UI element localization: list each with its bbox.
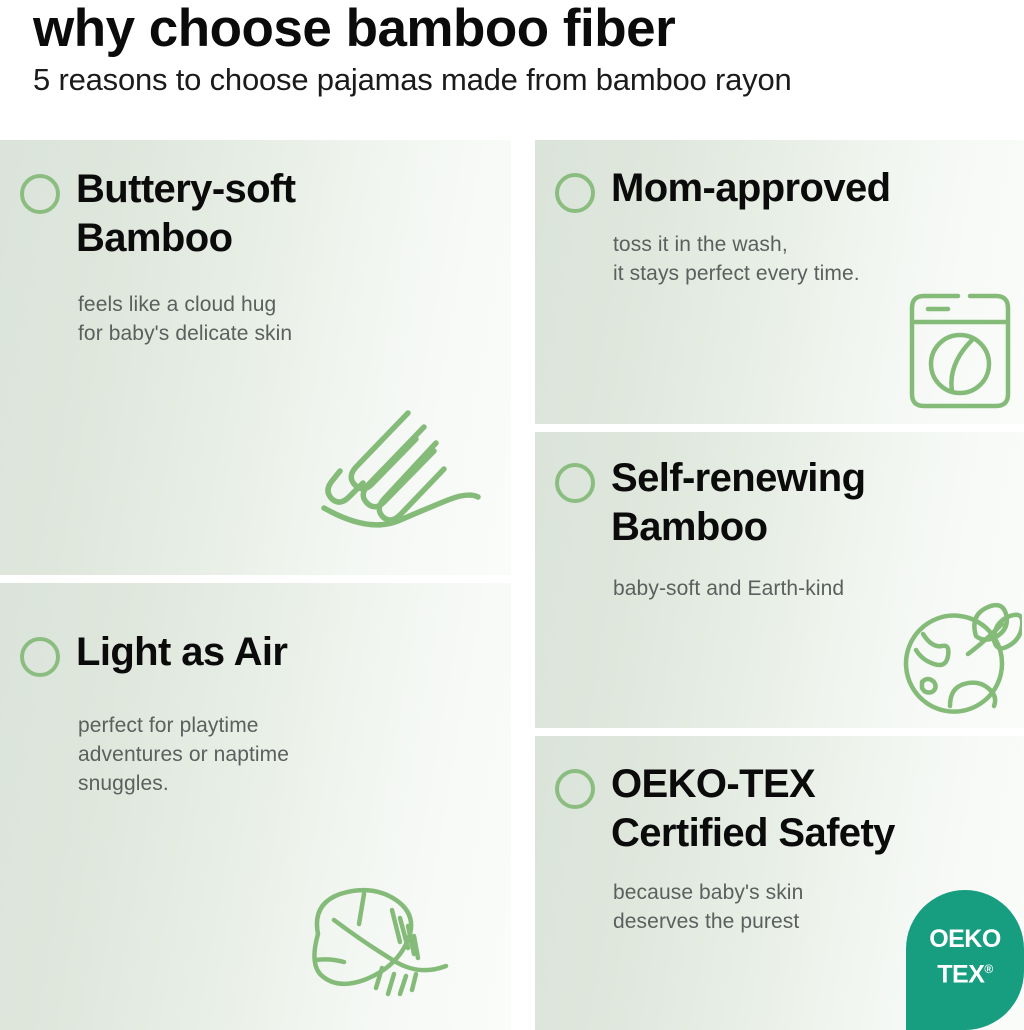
feature-card-light-as-air: Light as Air perfect for playtime advent… xyxy=(0,583,511,1030)
page-title: why choose bamboo fiber xyxy=(33,0,675,60)
circle-outline-bullet-icon xyxy=(555,769,595,809)
feature-card-self-renewing-bamboo: Self-renewing Bamboo baby-soft and Earth… xyxy=(535,432,1024,728)
circle-outline-bullet-icon xyxy=(555,173,595,213)
card-heading-row: OEKO-TEX Certified Safety xyxy=(555,760,895,858)
card-body-text: feels like a cloud hug for baby's delica… xyxy=(78,290,292,348)
bamboo-fiber-infographic: why choose bamboo fiber 5 reasons to cho… xyxy=(0,0,1024,1030)
card-title: Self-renewing Bamboo xyxy=(611,454,865,552)
circle-outline-bullet-icon xyxy=(20,637,60,677)
card-body-text: because baby's skin deserves the purest xyxy=(613,878,803,936)
feature-card-oeko-tex-certified-safety: OEKO-TEX Certified Safety because baby's… xyxy=(535,736,1024,1030)
card-body-text: toss it in the wash, it stays perfect ev… xyxy=(613,230,860,288)
circle-outline-bullet-icon xyxy=(555,463,595,503)
card-heading-row: Self-renewing Bamboo xyxy=(555,454,865,552)
card-heading-row: Mom-approved xyxy=(555,164,890,213)
card-title: Buttery-soft Bamboo xyxy=(76,165,295,263)
card-title: Mom-approved xyxy=(611,164,890,213)
header: why choose bamboo fiber 5 reasons to cho… xyxy=(0,0,1024,132)
feature-card-buttery-soft-bamboo: Buttery-soft Bamboo feels like a cloud h… xyxy=(0,140,511,575)
card-heading-row: Light as Air xyxy=(20,628,287,677)
card-body-text: perfect for playtime adventures or napti… xyxy=(78,711,289,798)
card-heading-row: Buttery-soft Bamboo xyxy=(20,165,295,263)
feather-icon xyxy=(296,882,486,1022)
oeko-tex-badge: OEKO TEX® xyxy=(906,890,1024,1030)
card-body-text: baby-soft and Earth-kind xyxy=(613,574,844,603)
feature-card-mom-approved: Mom-approved toss it in the wash, it sta… xyxy=(535,140,1024,424)
badge-tex-text: TEX xyxy=(937,961,984,989)
badge-line-tex: TEX® xyxy=(937,954,992,989)
page-subtitle: 5 reasons to choose pajamas made from ba… xyxy=(33,60,792,100)
card-title: Light as Air xyxy=(76,628,287,677)
registered-trademark-icon: ® xyxy=(984,962,992,976)
hand-soft-fabric-icon xyxy=(316,405,486,555)
card-title: OEKO-TEX Certified Safety xyxy=(611,760,895,858)
washing-machine-icon xyxy=(904,290,1016,412)
badge-line-oeko: OEKO xyxy=(929,924,1001,954)
circle-outline-bullet-icon xyxy=(20,174,60,214)
earth-with-leaves-icon xyxy=(898,602,1022,720)
